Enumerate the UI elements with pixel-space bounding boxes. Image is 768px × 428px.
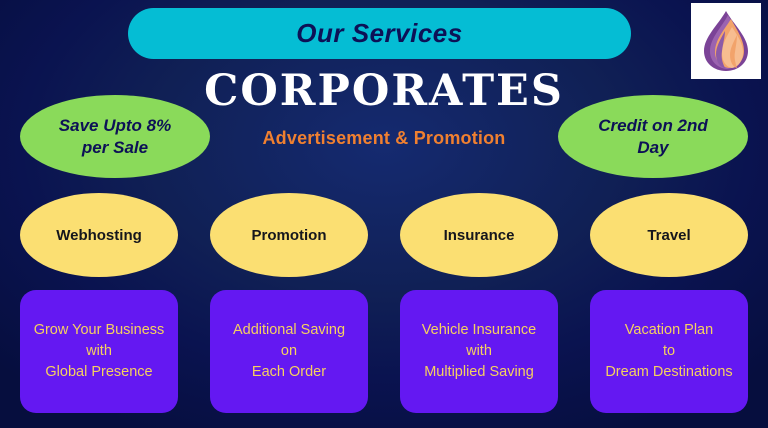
service-description-webhosting: Grow Your Business with Global Presence <box>30 320 169 383</box>
service-description-insurance: Vehicle Insurance with Multiplied Saving <box>418 320 540 383</box>
promo-badge-credit-on-2nd-day-text: Credit on 2nd Day <box>590 115 716 158</box>
service-column-webhosting: Webhosting Grow Your Business with Globa… <box>20 193 178 413</box>
service-description-promotion: Additional Saving on Each Order <box>229 320 349 383</box>
service-title-travel: Travel <box>647 227 690 244</box>
service-title-insurance: Insurance <box>444 227 515 244</box>
service-description-travel: Vacation Plan to Dream Destinations <box>601 320 736 383</box>
service-title-webhosting: Webhosting <box>56 227 142 244</box>
services-banner: Our Services <box>128 8 631 59</box>
promo-badge-save-upto: Save Upto 8% per Sale <box>20 95 210 178</box>
service-column-travel: Travel Vacation Plan to Dream Destinatio… <box>590 193 748 413</box>
services-banner-title: Our Services <box>296 18 462 49</box>
service-card-promotion[interactable]: Additional Saving on Each Order <box>210 290 368 413</box>
service-ellipse-travel[interactable]: Travel <box>590 193 748 277</box>
promo-badge-credit-on-2nd-day: Credit on 2nd Day <box>558 95 748 178</box>
droplet-flame-logo-icon <box>698 9 754 73</box>
service-ellipse-webhosting[interactable]: Webhosting <box>20 193 178 277</box>
service-ellipse-insurance[interactable]: Insurance <box>400 193 558 277</box>
service-ellipse-promotion[interactable]: Promotion <box>210 193 368 277</box>
service-card-webhosting[interactable]: Grow Your Business with Global Presence <box>20 290 178 413</box>
service-card-insurance[interactable]: Vehicle Insurance with Multiplied Saving <box>400 290 558 413</box>
service-card-travel[interactable]: Vacation Plan to Dream Destinations <box>590 290 748 413</box>
brand-logo <box>691 3 761 79</box>
service-column-insurance: Insurance Vehicle Insurance with Multipl… <box>400 193 558 413</box>
promo-badge-save-upto-text: Save Upto 8% per Sale <box>51 115 179 158</box>
service-column-promotion: Promotion Additional Saving on Each Orde… <box>210 193 368 413</box>
services-poster: Our Services CORPORATES Advertisement & … <box>0 0 768 428</box>
service-title-promotion: Promotion <box>252 227 327 244</box>
